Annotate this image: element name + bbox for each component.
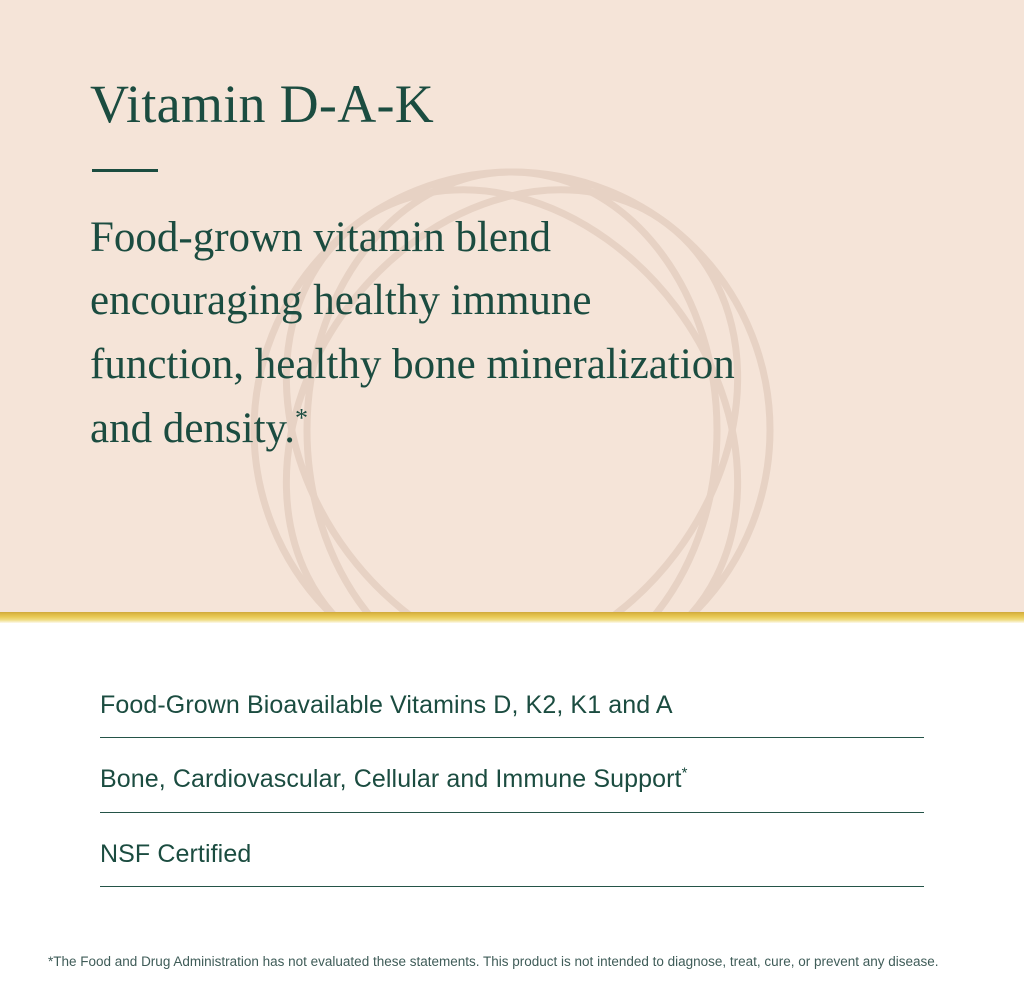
page-title: Vitamin D-A-K — [90, 76, 790, 133]
hero-copy: Vitamin D-A-K Food-grown vitamin blend e… — [90, 76, 790, 460]
list-item: Food-Grown Bioavailable Vitamins D, K2, … — [100, 690, 924, 738]
hero-subheading-text: Food-grown vitamin blend encouraging hea… — [90, 214, 735, 452]
list-item: Bone, Cardiovascular, Cellular and Immun… — [100, 764, 924, 812]
hero-footnote-marker: * — [295, 403, 308, 432]
feature-list: Food-Grown Bioavailable Vitamins D, K2, … — [100, 690, 924, 887]
feature-label-text: Bone, Cardiovascular, Cellular and Immun… — [100, 765, 682, 793]
feature-label: NSF Certified — [100, 839, 924, 870]
feature-label-text: Food-Grown Bioavailable Vitamins D, K2, … — [100, 691, 673, 719]
feature-label: Food-Grown Bioavailable Vitamins D, K2, … — [100, 690, 924, 721]
product-benefits-panel: Vitamin D-A-K Food-grown vitamin blend e… — [0, 0, 1024, 981]
hero-section: Vitamin D-A-K Food-grown vitamin blend e… — [0, 0, 1024, 612]
list-item: NSF Certified — [100, 839, 924, 887]
gold-accent-divider — [0, 612, 1024, 623]
hero-subheading: Food-grown vitamin blend encouraging hea… — [90, 206, 750, 461]
fda-disclaimer: *The Food and Drug Administration has no… — [48, 953, 988, 971]
feature-label: Bone, Cardiovascular, Cellular and Immun… — [100, 764, 924, 795]
title-divider-rule — [92, 169, 158, 172]
feature-footnote-marker: * — [682, 765, 688, 782]
feature-label-text: NSF Certified — [100, 840, 251, 868]
